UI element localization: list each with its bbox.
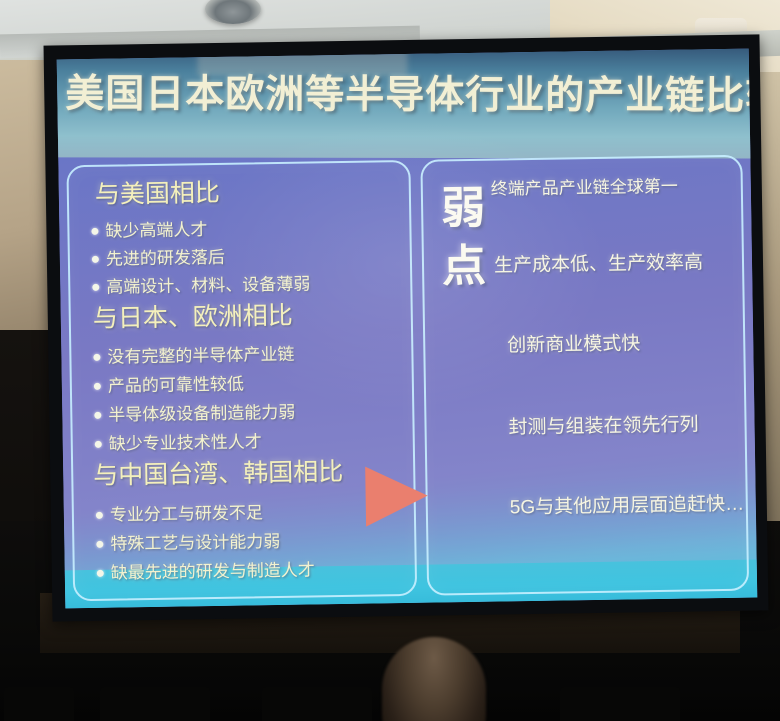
seat-row (100, 687, 210, 721)
right-line-5: 5G与其他应用层面追赶快… (510, 495, 745, 518)
page-title: 美国日本欧洲等半导体行业的产业链比较 (65, 75, 757, 116)
list-item: 没有完整的半导体产业链 (93, 346, 294, 366)
list-item-label: 缺少专业技术性人才 (109, 433, 262, 452)
right-line-1: 终端产品产业链全球第一 (491, 178, 678, 198)
list-item-label: 产品的可靠性较低 (108, 376, 244, 395)
bullet-dot-icon (97, 570, 104, 577)
right-line-3: 创新商业模式快 (507, 334, 640, 355)
right-strengths-panel: 弱 点 终端产品产业链全球第一 生产成本低、生产效率高 创新商业模式快 封测与组… (420, 155, 749, 596)
bullet-dot-icon (96, 541, 103, 548)
screenshot-stage: 美国日本欧洲等半导体行业的产业链比较 与美国相比 缺少高端人才 先进的研发落后 (0, 0, 780, 721)
section-heading-taiwan-korea: 与中国台湾、韩国相比 (93, 460, 343, 489)
list-item-label: 先进的研发落后 (106, 249, 225, 268)
presentation-slide: 美国日本欧洲等半导体行业的产业链比较 与美国相比 缺少高端人才 先进的研发落后 (57, 49, 758, 609)
list-item-label: 高端设计、材料、设备薄弱 (106, 275, 310, 295)
title-band-sheen (197, 49, 407, 76)
list-item: 缺少高端人才 (91, 221, 207, 240)
seat-row (262, 687, 372, 721)
list-item: 特殊工艺与设计能力弱 (96, 533, 280, 553)
list-item-label: 特殊工艺与设计能力弱 (110, 533, 280, 553)
seat-row (4, 687, 74, 721)
section-heading-us: 与美国相比 (95, 181, 220, 208)
list-item: 产品的可靠性较低 (94, 376, 244, 395)
right-line-4: 封测与组装在领先行列 (508, 415, 698, 437)
list-item: 缺最先进的研发与制造人才 (97, 561, 315, 581)
list-item: 缺少专业技术性人才 (95, 433, 262, 453)
bullet-dot-icon (93, 354, 100, 361)
right-line-2: 生产成本低、生产效率高 (494, 253, 703, 275)
bullet-dot-icon (92, 284, 99, 291)
bullet-dot-icon (92, 256, 99, 263)
list-item-label: 半导体级设备制造能力弱 (108, 404, 295, 424)
list-item: 专业分工与研发不足 (96, 504, 263, 524)
bullet-dot-icon (95, 441, 102, 448)
section-heading-japan-europe: 与日本、欧洲相比 (93, 304, 293, 332)
right-arrow-icon (365, 466, 428, 527)
big-character-weak: 弱 (441, 187, 486, 232)
projector-screen-surface: 美国日本欧洲等半导体行业的产业链比较 与美国相比 缺少高端人才 先进的研发落后 (57, 49, 758, 609)
big-character-point: 点 (442, 245, 487, 290)
list-item-label: 缺少高端人才 (105, 221, 207, 240)
list-item-label: 专业分工与研发不足 (110, 504, 263, 523)
bullet-dot-icon (94, 383, 101, 390)
list-item-label: 没有完整的半导体产业链 (107, 346, 294, 366)
list-item: 先进的研发落后 (92, 249, 225, 268)
projector-screen-frame: 美国日本欧洲等半导体行业的产业链比较 与美国相比 缺少高端人才 先进的研发落后 (44, 34, 769, 621)
list-item-label: 缺最先进的研发与制造人才 (111, 561, 315, 581)
left-comparison-panel: 与美国相比 缺少高端人才 先进的研发落后 高端设计、材料、设备薄弱 与日本、欧洲… (66, 160, 417, 601)
bullet-dot-icon (94, 412, 101, 419)
seat-row (560, 687, 680, 721)
list-item: 高端设计、材料、设备薄弱 (92, 275, 310, 295)
bullet-dot-icon (91, 228, 98, 235)
bullet-dot-icon (96, 512, 103, 519)
list-item: 半导体级设备制造能力弱 (94, 404, 295, 424)
